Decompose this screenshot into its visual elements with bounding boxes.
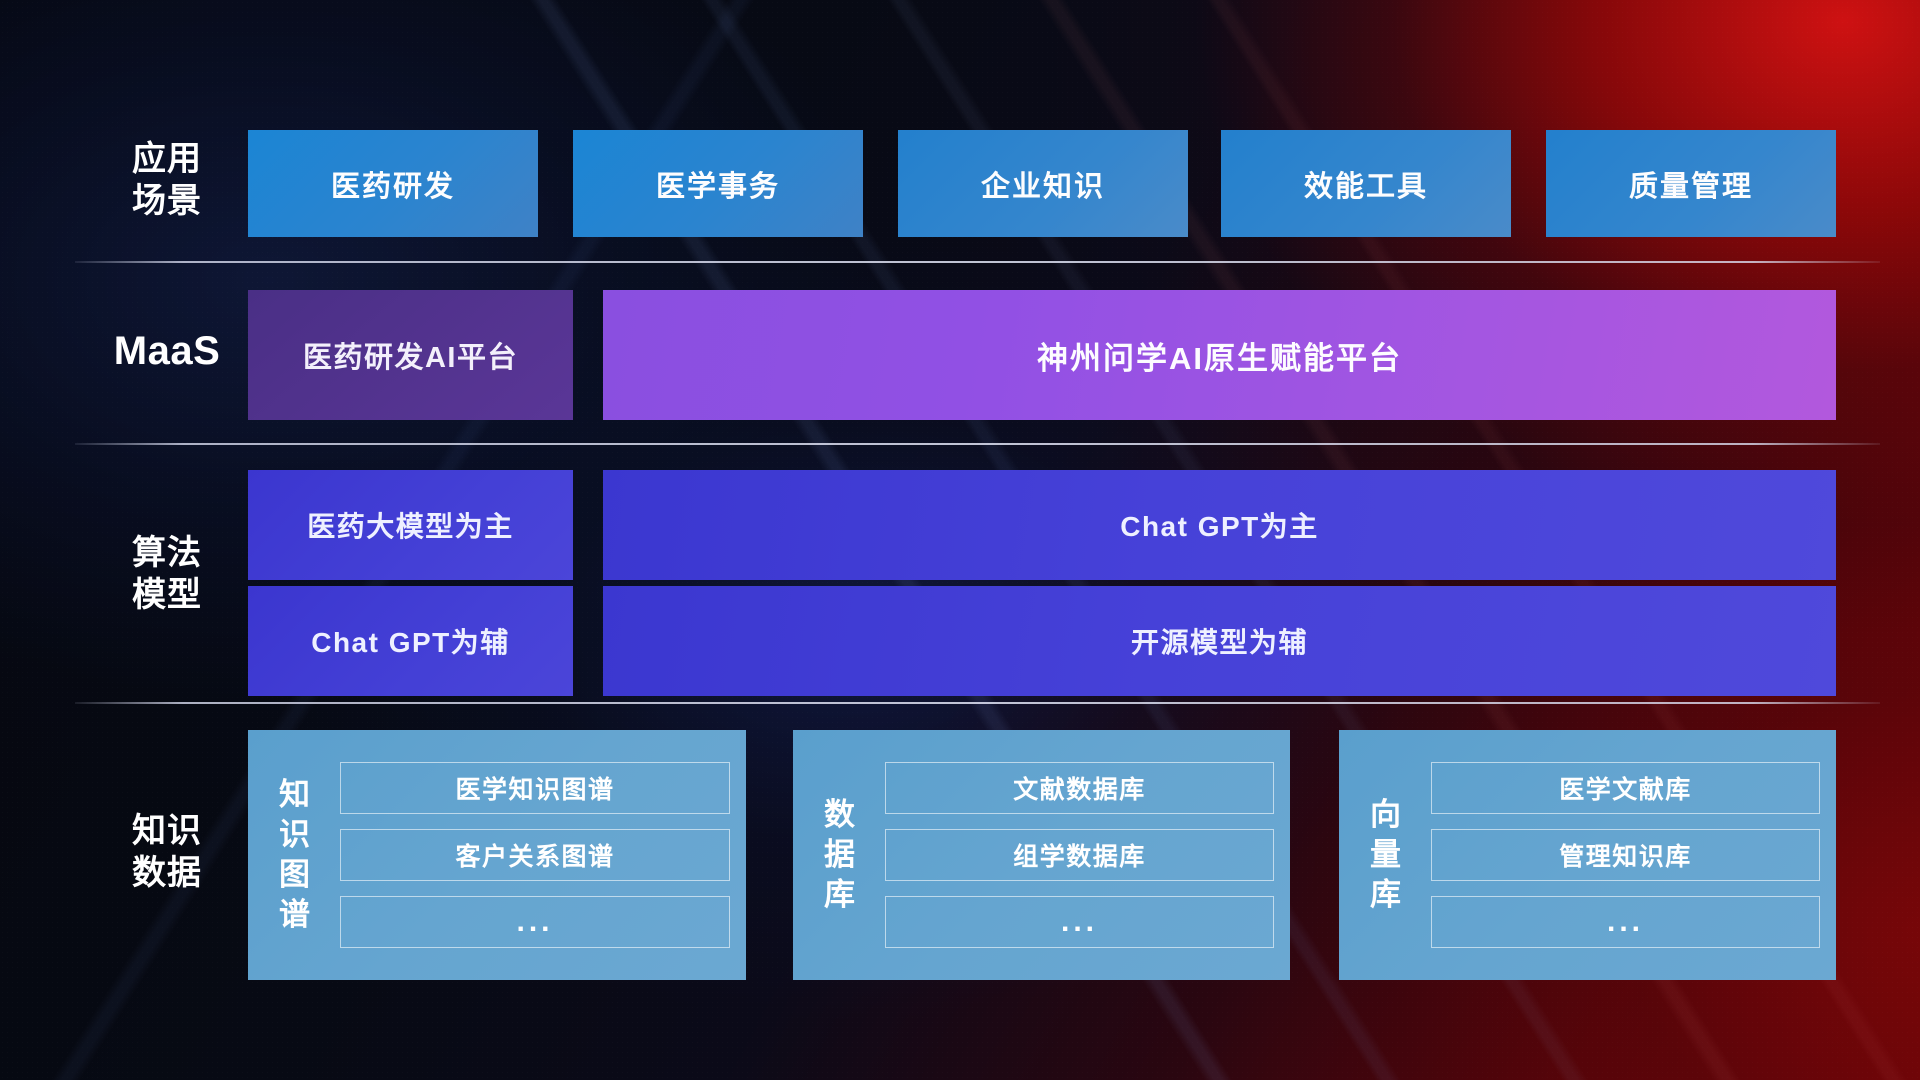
maas-platform-box[interactable]: 医药研发AI平台 — [248, 290, 573, 420]
app-box-3[interactable]: 效能工具 — [1221, 130, 1511, 237]
row-knowledge: 知识 数据 知 识 图 谱 医学知识图谱 客户关系图谱 ... 数 据 库 文献… — [0, 730, 1920, 980]
knowledge-item[interactable]: 文献数据库 — [885, 762, 1274, 814]
knowledge-group-label: 知 识 图 谱 — [264, 775, 326, 935]
algo-right-box-0[interactable]: Chat GPT为主 — [603, 470, 1836, 580]
app-box-2[interactable]: 企业知识 — [898, 130, 1188, 237]
divider-application-maas — [75, 261, 1880, 263]
row-algorithm: 算法 模型 医药大模型为主 Chat GPT为主 Chat GPT为辅 开源模型… — [0, 470, 1920, 700]
app-box-1[interactable]: 医学事务 — [573, 130, 863, 237]
knowledge-group-vector-store[interactable]: 向 量 库 医学文献库 管理知识库 ... — [1339, 730, 1836, 980]
row-maas: MaaS 医药研发AI平台 神州问学AI原生赋能平台 — [0, 290, 1920, 420]
knowledge-item-more[interactable]: ... — [340, 896, 730, 948]
knowledge-item-more[interactable]: ... — [885, 896, 1274, 948]
app-box-label: 企业知识 — [981, 163, 1105, 205]
app-box-label: 医药研发 — [331, 163, 455, 205]
divider-maas-algorithm — [75, 443, 1880, 445]
row-label-maas: MaaS — [92, 330, 242, 372]
knowledge-item-more[interactable]: ... — [1431, 896, 1820, 948]
knowledge-item[interactable]: 组学数据库 — [885, 829, 1274, 881]
knowledge-group-database[interactable]: 数 据 库 文献数据库 组学数据库 ... — [793, 730, 1290, 980]
app-box-label: 效能工具 — [1304, 163, 1428, 205]
app-box-0[interactable]: 医药研发 — [248, 130, 538, 237]
knowledge-item[interactable]: 管理知识库 — [1431, 829, 1820, 881]
row-label-algorithm: 算法 模型 — [92, 532, 242, 616]
knowledge-item[interactable]: 医学文献库 — [1431, 762, 1820, 814]
app-box-label: 质量管理 — [1629, 163, 1753, 205]
maas-enablement-platform-label: 神州问学AI原生赋能平台 — [1037, 333, 1402, 378]
algo-left-label: Chat GPT为辅 — [311, 621, 510, 661]
app-box-label: 医学事务 — [656, 163, 780, 205]
diagram-canvas: 应用 场景 医药研发 医学事务 企业知识 效能工具 质量管理 MaaS 医药研发… — [0, 0, 1920, 1080]
knowledge-item[interactable]: 医学知识图谱 — [340, 762, 730, 814]
divider-algorithm-knowledge — [75, 702, 1880, 704]
app-box-4[interactable]: 质量管理 — [1546, 130, 1836, 237]
algo-right-label: 开源模型为辅 — [1131, 621, 1308, 661]
maas-platform-label: 医药研发AI平台 — [303, 334, 518, 376]
maas-enablement-platform-box[interactable]: 神州问学AI原生赋能平台 — [603, 290, 1836, 420]
algo-right-box-1[interactable]: 开源模型为辅 — [603, 586, 1836, 696]
row-label-knowledge: 知识 数据 — [92, 810, 242, 894]
row-application: 应用 场景 医药研发 医学事务 企业知识 效能工具 质量管理 — [0, 130, 1920, 237]
algo-right-label: Chat GPT为主 — [1120, 505, 1319, 545]
knowledge-group-label: 向 量 库 — [1355, 795, 1417, 915]
knowledge-group-items: 医学文献库 管理知识库 ... — [1431, 762, 1820, 948]
knowledge-group-items: 文献数据库 组学数据库 ... — [885, 762, 1274, 948]
knowledge-item[interactable]: 客户关系图谱 — [340, 829, 730, 881]
knowledge-group-label: 数 据 库 — [809, 795, 871, 915]
knowledge-group-knowledge-graph[interactable]: 知 识 图 谱 医学知识图谱 客户关系图谱 ... — [248, 730, 746, 980]
algo-left-label: 医药大模型为主 — [307, 505, 514, 545]
algo-left-box-0[interactable]: 医药大模型为主 — [248, 470, 573, 580]
algo-left-box-1[interactable]: Chat GPT为辅 — [248, 586, 573, 696]
row-label-application: 应用 场景 — [92, 138, 242, 222]
knowledge-group-items: 医学知识图谱 客户关系图谱 ... — [340, 762, 730, 948]
